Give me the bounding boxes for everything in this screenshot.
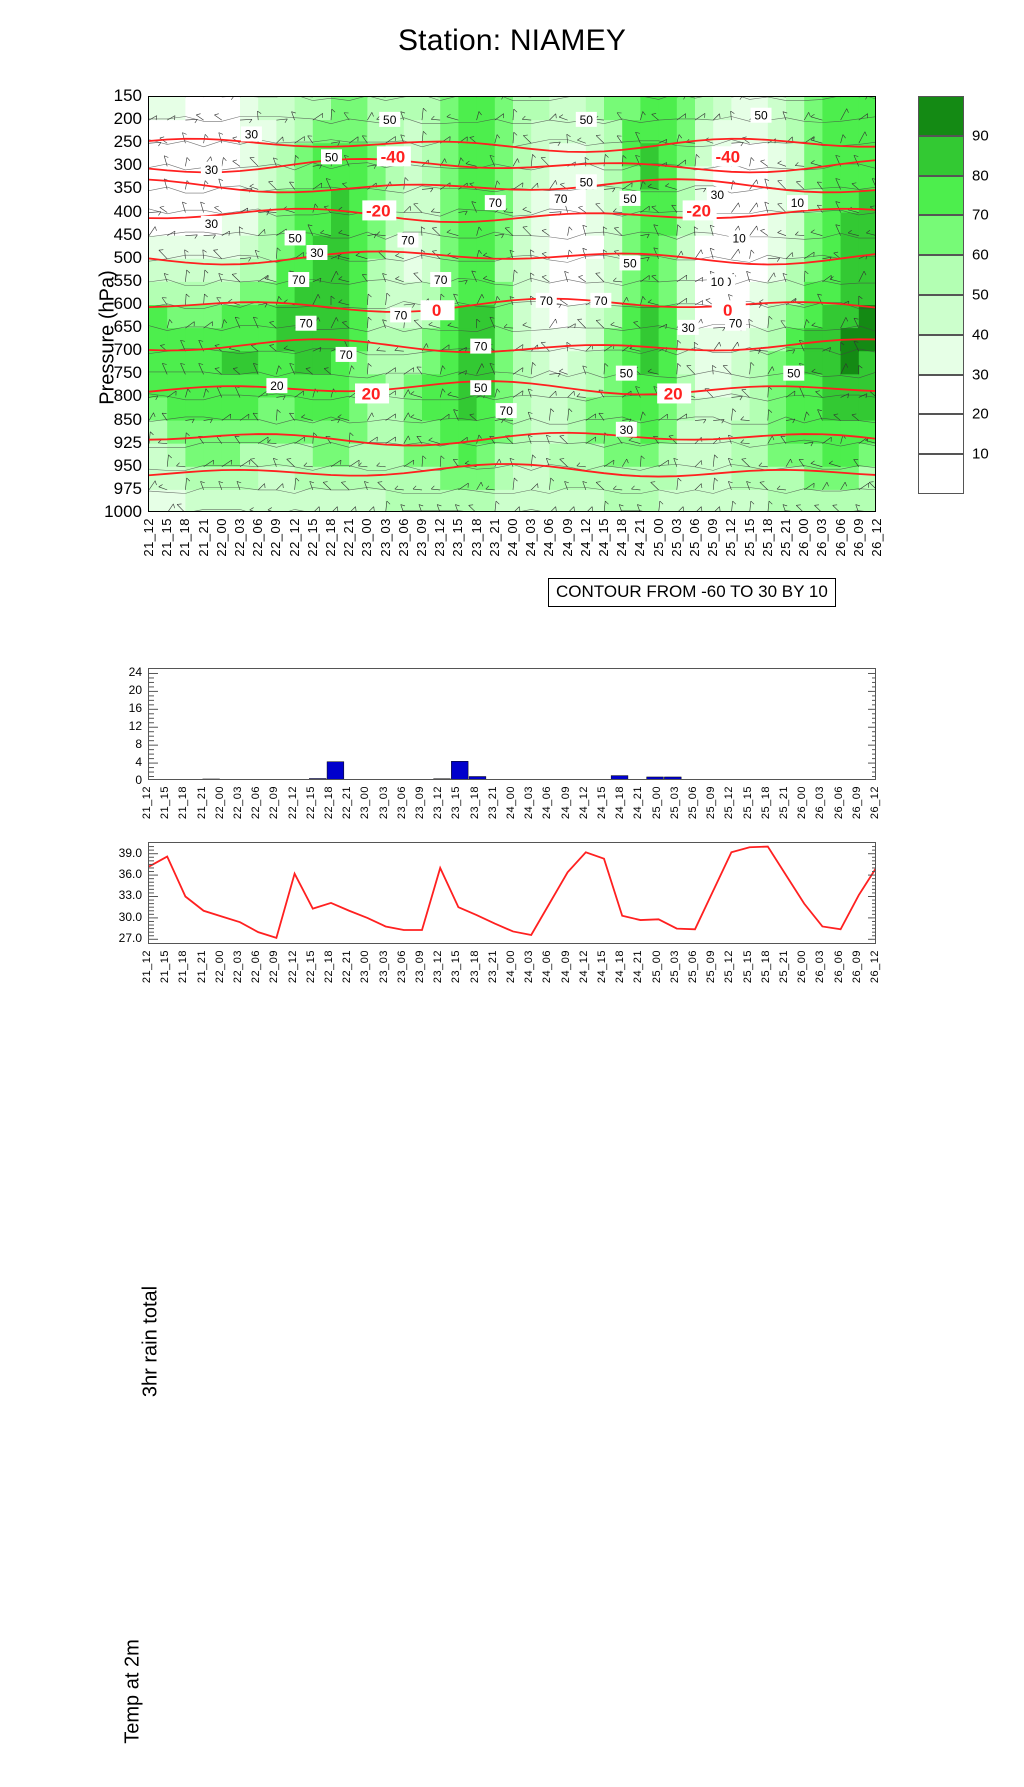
x-axis-label: 26_12 xyxy=(869,786,881,819)
x-axis-label: 23_18 xyxy=(469,950,481,983)
svg-text:50: 50 xyxy=(754,109,768,123)
x-axis-label: 25_12 xyxy=(723,786,735,819)
svg-text:20: 20 xyxy=(664,384,683,403)
svg-text:50: 50 xyxy=(288,231,302,245)
svg-text:50: 50 xyxy=(623,256,637,270)
svg-text:50: 50 xyxy=(620,367,634,381)
x-axis-label: 21_21 xyxy=(196,518,211,557)
colorbar-swatch xyxy=(918,136,964,176)
pressure-tick-label: 300 xyxy=(114,155,142,175)
rain-tick-label: 8 xyxy=(135,737,142,751)
x-axis-label: 22_00 xyxy=(214,950,226,983)
x-axis-label: 21_21 xyxy=(196,950,208,983)
x-axis-label: 23_21 xyxy=(487,950,499,983)
x-axis-label: 26_09 xyxy=(851,786,863,819)
chart-page: Station: NIAMEY Pressure (hPa) 150200250… xyxy=(0,0,1024,1024)
x-axis-label: 22_09 xyxy=(268,950,280,983)
pressure-tick-label: 650 xyxy=(114,317,142,337)
x-axis-label: 23_21 xyxy=(487,786,499,819)
svg-text:70: 70 xyxy=(339,348,353,362)
x-axis-label: 25_09 xyxy=(705,786,717,819)
x-axis-label: 23_18 xyxy=(469,786,481,819)
x-axis-label: 22_21 xyxy=(341,950,353,983)
x-axis-label: 24_03 xyxy=(523,950,535,983)
rain-tick-label: 20 xyxy=(129,683,142,697)
x-axis-label: 26_06 xyxy=(833,518,848,557)
x-axis-label: 22_15 xyxy=(305,786,317,819)
colorbar-tick-label: 60 xyxy=(972,247,989,264)
x-axis-label: 26_09 xyxy=(851,518,866,557)
rain-plot-frame xyxy=(148,668,876,780)
main-plot-frame: -40-40-20-200020203050505030305070705030… xyxy=(148,96,876,512)
x-axis-label: 26_03 xyxy=(814,518,829,557)
svg-text:10: 10 xyxy=(733,231,747,245)
colorbar-swatch xyxy=(918,96,964,136)
colorbar-swatch xyxy=(918,335,964,375)
x-axis-label: 24_18 xyxy=(614,786,626,819)
x-axis-label: 25_09 xyxy=(705,950,717,983)
x-axis-label: 22_06 xyxy=(250,950,262,983)
x-axis-label: 23_12 xyxy=(432,518,447,557)
x-axis-label: 26_12 xyxy=(869,518,884,557)
x-axis-label: 25_03 xyxy=(669,950,681,983)
x-axis-label: 24_18 xyxy=(614,518,629,557)
pressure-tick-label: 750 xyxy=(114,363,142,383)
temperature-panel xyxy=(148,842,876,944)
x-axis-label: 25_15 xyxy=(742,950,754,983)
temp-tick-label: 39.0 xyxy=(119,846,142,860)
svg-text:50: 50 xyxy=(787,367,801,381)
x-axis-label: 23_00 xyxy=(359,786,371,819)
colorbar-swatch xyxy=(918,454,964,494)
x-axis-label: 22_03 xyxy=(232,518,247,557)
x-axis-label: 25_06 xyxy=(687,950,699,983)
x-axis-label: 22_21 xyxy=(341,786,353,819)
svg-text:30: 30 xyxy=(205,163,219,177)
pressure-tick-label: 1000 xyxy=(104,502,142,522)
x-axis-label: 24_03 xyxy=(523,518,538,557)
x-axis-label: 26_12 xyxy=(869,950,881,983)
pressure-tick-label: 150 xyxy=(114,86,142,106)
x-axis-label: 21_18 xyxy=(177,518,192,557)
x-axis-label: 22_00 xyxy=(214,786,226,819)
contour-note-box: CONTOUR FROM -60 TO 30 BY 10 xyxy=(548,578,836,607)
x-axis-label: 23_06 xyxy=(396,518,411,557)
temp-plot-svg xyxy=(149,843,876,944)
x-axis-label: 21_12 xyxy=(141,518,156,557)
svg-text:70: 70 xyxy=(401,234,415,248)
rain-panel-x-axis: 21_1221_1521_1821_2122_0022_0322_0622_09… xyxy=(148,786,876,842)
pressure-tick-label: 850 xyxy=(114,410,142,430)
x-axis-label: 22_15 xyxy=(305,950,317,983)
svg-text:30: 30 xyxy=(310,246,324,260)
x-axis-label: 26_09 xyxy=(851,950,863,983)
x-axis-label: 22_18 xyxy=(323,950,335,983)
svg-text:30: 30 xyxy=(711,188,725,202)
x-axis-label: 25_21 xyxy=(778,518,793,557)
temp-plot-frame xyxy=(148,842,876,944)
x-axis-label: 24_15 xyxy=(596,950,608,983)
x-axis-label: 22_06 xyxy=(250,786,262,819)
x-axis-label: 22_03 xyxy=(232,950,244,983)
x-axis-label: 21_18 xyxy=(177,786,189,819)
x-axis-label: 22_12 xyxy=(287,786,299,819)
x-axis-label: 21_21 xyxy=(196,786,208,819)
rain-tick-label: 12 xyxy=(129,719,142,733)
x-axis-label: 25_15 xyxy=(742,518,757,557)
svg-text:0: 0 xyxy=(432,301,441,320)
pressure-tick-label: 700 xyxy=(114,340,142,360)
x-axis-label: 26_00 xyxy=(796,950,808,983)
svg-text:70: 70 xyxy=(729,317,743,331)
x-axis-label: 24_06 xyxy=(541,950,553,983)
temp-tick-label: 27.0 xyxy=(119,931,142,945)
x-axis-label: 23_03 xyxy=(378,518,393,557)
pressure-tick-label: 800 xyxy=(114,386,142,406)
x-axis-label: 26_06 xyxy=(833,786,845,819)
x-axis-label: 23_00 xyxy=(359,950,371,983)
x-axis-label: 22_21 xyxy=(341,518,356,557)
pressure-tick-label: 925 xyxy=(114,433,142,453)
x-axis-label: 23_21 xyxy=(487,518,502,557)
colorbar-tick-label: 50 xyxy=(972,287,989,304)
svg-text:70: 70 xyxy=(434,273,448,287)
pressure-tick-label: 200 xyxy=(114,109,142,129)
main-plot-svg: -40-40-20-200020203050505030305070705030… xyxy=(149,97,876,512)
pressure-tick-label: 350 xyxy=(114,178,142,198)
x-axis-label: 25_15 xyxy=(742,786,754,819)
colorbar-swatch xyxy=(918,375,964,415)
x-axis-label: 24_21 xyxy=(632,950,644,983)
x-axis-label: 24_06 xyxy=(541,786,553,819)
temp-tick-label: 30.0 xyxy=(119,910,142,924)
x-axis-label: 26_00 xyxy=(796,518,811,557)
humidity-cross-section-panel: -40-40-20-200020203050505030305070705030… xyxy=(148,96,876,512)
svg-text:-40: -40 xyxy=(715,147,740,166)
pressure-tick-label: 950 xyxy=(114,456,142,476)
pressure-tick-label: 500 xyxy=(114,248,142,268)
x-axis-label: 22_18 xyxy=(323,786,335,819)
x-axis-label: 21_15 xyxy=(159,786,171,819)
colorbar-swatch xyxy=(918,414,964,454)
x-axis-label: 25_21 xyxy=(778,786,790,819)
x-axis-label: 26_00 xyxy=(796,786,808,819)
svg-text:50: 50 xyxy=(623,192,637,206)
x-axis-label: 24_12 xyxy=(578,518,593,557)
x-axis-label: 24_15 xyxy=(596,518,611,557)
x-axis-label: 24_12 xyxy=(578,950,590,983)
x-axis-label: 25_03 xyxy=(669,786,681,819)
x-axis-label: 24_00 xyxy=(505,518,520,557)
colorbar-tick-label: 30 xyxy=(972,366,989,383)
colorbar-swatch xyxy=(918,215,964,255)
x-axis-label: 25_18 xyxy=(760,950,772,983)
x-axis-label: 23_03 xyxy=(378,786,390,819)
colorbar-tick-label: 10 xyxy=(972,446,989,463)
svg-text:20: 20 xyxy=(362,384,381,403)
x-axis-label: 25_18 xyxy=(760,786,772,819)
x-axis-label: 26_06 xyxy=(833,950,845,983)
colorbar-tick-label: 40 xyxy=(972,326,989,343)
rain-tick-label: 24 xyxy=(129,665,142,679)
x-axis-label: 22_06 xyxy=(250,518,265,557)
colorbar-swatch xyxy=(918,295,964,335)
x-axis-label: 24_03 xyxy=(523,786,535,819)
svg-text:50: 50 xyxy=(580,175,594,189)
x-axis-label: 21_12 xyxy=(141,786,153,819)
svg-text:70: 70 xyxy=(292,273,306,287)
x-axis-label: 25_18 xyxy=(760,518,775,557)
pressure-tick-label: 250 xyxy=(114,132,142,152)
rain-total-panel xyxy=(148,668,876,780)
x-axis-label: 23_06 xyxy=(396,786,408,819)
svg-text:70: 70 xyxy=(594,294,608,308)
x-axis-label: 21_12 xyxy=(141,950,153,983)
x-axis-label: 25_12 xyxy=(723,950,735,983)
x-axis-label: 22_15 xyxy=(305,518,320,557)
x-axis-label: 26_03 xyxy=(814,786,826,819)
x-axis-label: 24_09 xyxy=(560,518,575,557)
x-axis-label: 23_18 xyxy=(469,518,484,557)
svg-text:70: 70 xyxy=(299,317,313,331)
svg-text:30: 30 xyxy=(682,321,696,335)
rain-plot-svg xyxy=(149,669,876,780)
colorbar xyxy=(918,96,964,494)
temp-tick-label: 36.0 xyxy=(119,867,142,881)
colorbar-tick-label: 20 xyxy=(972,406,989,423)
svg-text:70: 70 xyxy=(489,196,503,210)
svg-text:10: 10 xyxy=(711,275,725,289)
x-axis-label: 21_15 xyxy=(159,950,171,983)
x-axis-label: 22_09 xyxy=(268,518,283,557)
temp-panel-y-axis-title: Temp at 2m xyxy=(122,1597,145,1787)
svg-text:30: 30 xyxy=(205,217,219,231)
main-panel-x-axis: 21_1221_1521_1821_2122_0022_0322_0622_09… xyxy=(148,518,876,580)
x-axis-label: 24_06 xyxy=(541,518,556,557)
x-axis-label: 23_06 xyxy=(396,950,408,983)
x-axis-label: 22_09 xyxy=(268,786,280,819)
x-axis-label: 25_12 xyxy=(723,518,738,557)
x-axis-label: 24_09 xyxy=(560,950,572,983)
svg-text:-40: -40 xyxy=(381,147,406,166)
colorbar-swatch xyxy=(918,176,964,216)
colorbar-tick-label: 80 xyxy=(972,167,989,184)
x-axis-label: 24_00 xyxy=(505,950,517,983)
x-axis-label: 23_09 xyxy=(414,786,426,819)
svg-text:30: 30 xyxy=(245,127,259,141)
x-axis-label: 24_00 xyxy=(505,786,517,819)
svg-text:50: 50 xyxy=(325,150,339,164)
svg-text:10: 10 xyxy=(791,196,805,210)
pressure-tick-label: 975 xyxy=(114,479,142,499)
svg-text:50: 50 xyxy=(383,113,397,127)
pressure-tick-label: 550 xyxy=(114,271,142,291)
page-title: Station: NIAMEY xyxy=(0,24,1024,58)
x-axis-label: 25_00 xyxy=(651,950,663,983)
svg-text:-20: -20 xyxy=(366,201,391,220)
svg-text:50: 50 xyxy=(580,113,594,127)
x-axis-label: 24_18 xyxy=(614,950,626,983)
x-axis-label: 25_09 xyxy=(705,518,720,557)
x-axis-label: 24_12 xyxy=(578,786,590,819)
x-axis-label: 25_03 xyxy=(669,518,684,557)
rain-tick-label: 4 xyxy=(135,755,142,769)
x-axis-label: 23_00 xyxy=(359,518,374,557)
x-axis-label: 23_12 xyxy=(432,786,444,819)
rain-tick-label: 16 xyxy=(129,701,142,715)
colorbar-tick-label: 90 xyxy=(972,127,989,144)
colorbar-swatch xyxy=(918,255,964,295)
temp-panel-x-axis: 21_1221_1521_1821_2122_0022_0322_0622_09… xyxy=(148,950,876,1006)
x-axis-label: 22_18 xyxy=(323,518,338,557)
svg-text:70: 70 xyxy=(500,404,514,418)
temp-tick-label: 33.0 xyxy=(119,888,142,902)
x-axis-label: 25_06 xyxy=(687,786,699,819)
colorbar-tick-label: 70 xyxy=(972,207,989,224)
x-axis-label: 23_09 xyxy=(414,950,426,983)
x-axis-label: 22_00 xyxy=(214,518,229,557)
svg-text:70: 70 xyxy=(554,192,568,206)
x-axis-label: 23_15 xyxy=(450,518,465,557)
x-axis-label: 23_03 xyxy=(378,950,390,983)
x-axis-label: 21_15 xyxy=(159,518,174,557)
svg-text:50: 50 xyxy=(474,381,488,395)
svg-text:70: 70 xyxy=(540,294,554,308)
svg-text:30: 30 xyxy=(620,423,634,437)
x-axis-label: 24_09 xyxy=(560,786,572,819)
x-axis-label: 21_18 xyxy=(177,950,189,983)
x-axis-label: 24_15 xyxy=(596,786,608,819)
svg-text:70: 70 xyxy=(474,340,488,354)
svg-text:-20: -20 xyxy=(686,201,711,220)
x-axis-label: 23_15 xyxy=(450,786,462,819)
temp-panel-y-axis: Temp at 2m 27.030.033.036.039.0 xyxy=(80,842,142,944)
x-axis-label: 23_12 xyxy=(432,950,444,983)
svg-text:20: 20 xyxy=(270,379,284,393)
x-axis-label: 23_09 xyxy=(414,518,429,557)
x-axis-label: 25_00 xyxy=(651,518,666,557)
pressure-tick-label: 400 xyxy=(114,202,142,222)
main-panel-y-axis: Pressure (hPa) 1502002503003504004505005… xyxy=(58,96,142,512)
x-axis-label: 22_12 xyxy=(287,518,302,557)
x-axis-label: 25_06 xyxy=(687,518,702,557)
x-axis-label: 24_21 xyxy=(632,786,644,819)
x-axis-label: 23_15 xyxy=(450,950,462,983)
colorbar-labels: 908070605040302010 xyxy=(972,96,1016,494)
rain-panel-y-axis-title: 3hr rain total xyxy=(140,1247,163,1437)
x-axis-label: 26_03 xyxy=(814,950,826,983)
rain-panel-y-axis: 3hr rain total 04812162024 xyxy=(92,668,142,780)
x-axis-label: 22_12 xyxy=(287,950,299,983)
x-axis-label: 22_03 xyxy=(232,786,244,819)
x-axis-label: 25_21 xyxy=(778,950,790,983)
x-axis-label: 25_00 xyxy=(651,786,663,819)
svg-text:70: 70 xyxy=(394,308,408,322)
pressure-tick-label: 450 xyxy=(114,225,142,245)
rain-tick-label: 0 xyxy=(135,773,142,787)
pressure-tick-label: 600 xyxy=(114,294,142,314)
x-axis-label: 24_21 xyxy=(632,518,647,557)
